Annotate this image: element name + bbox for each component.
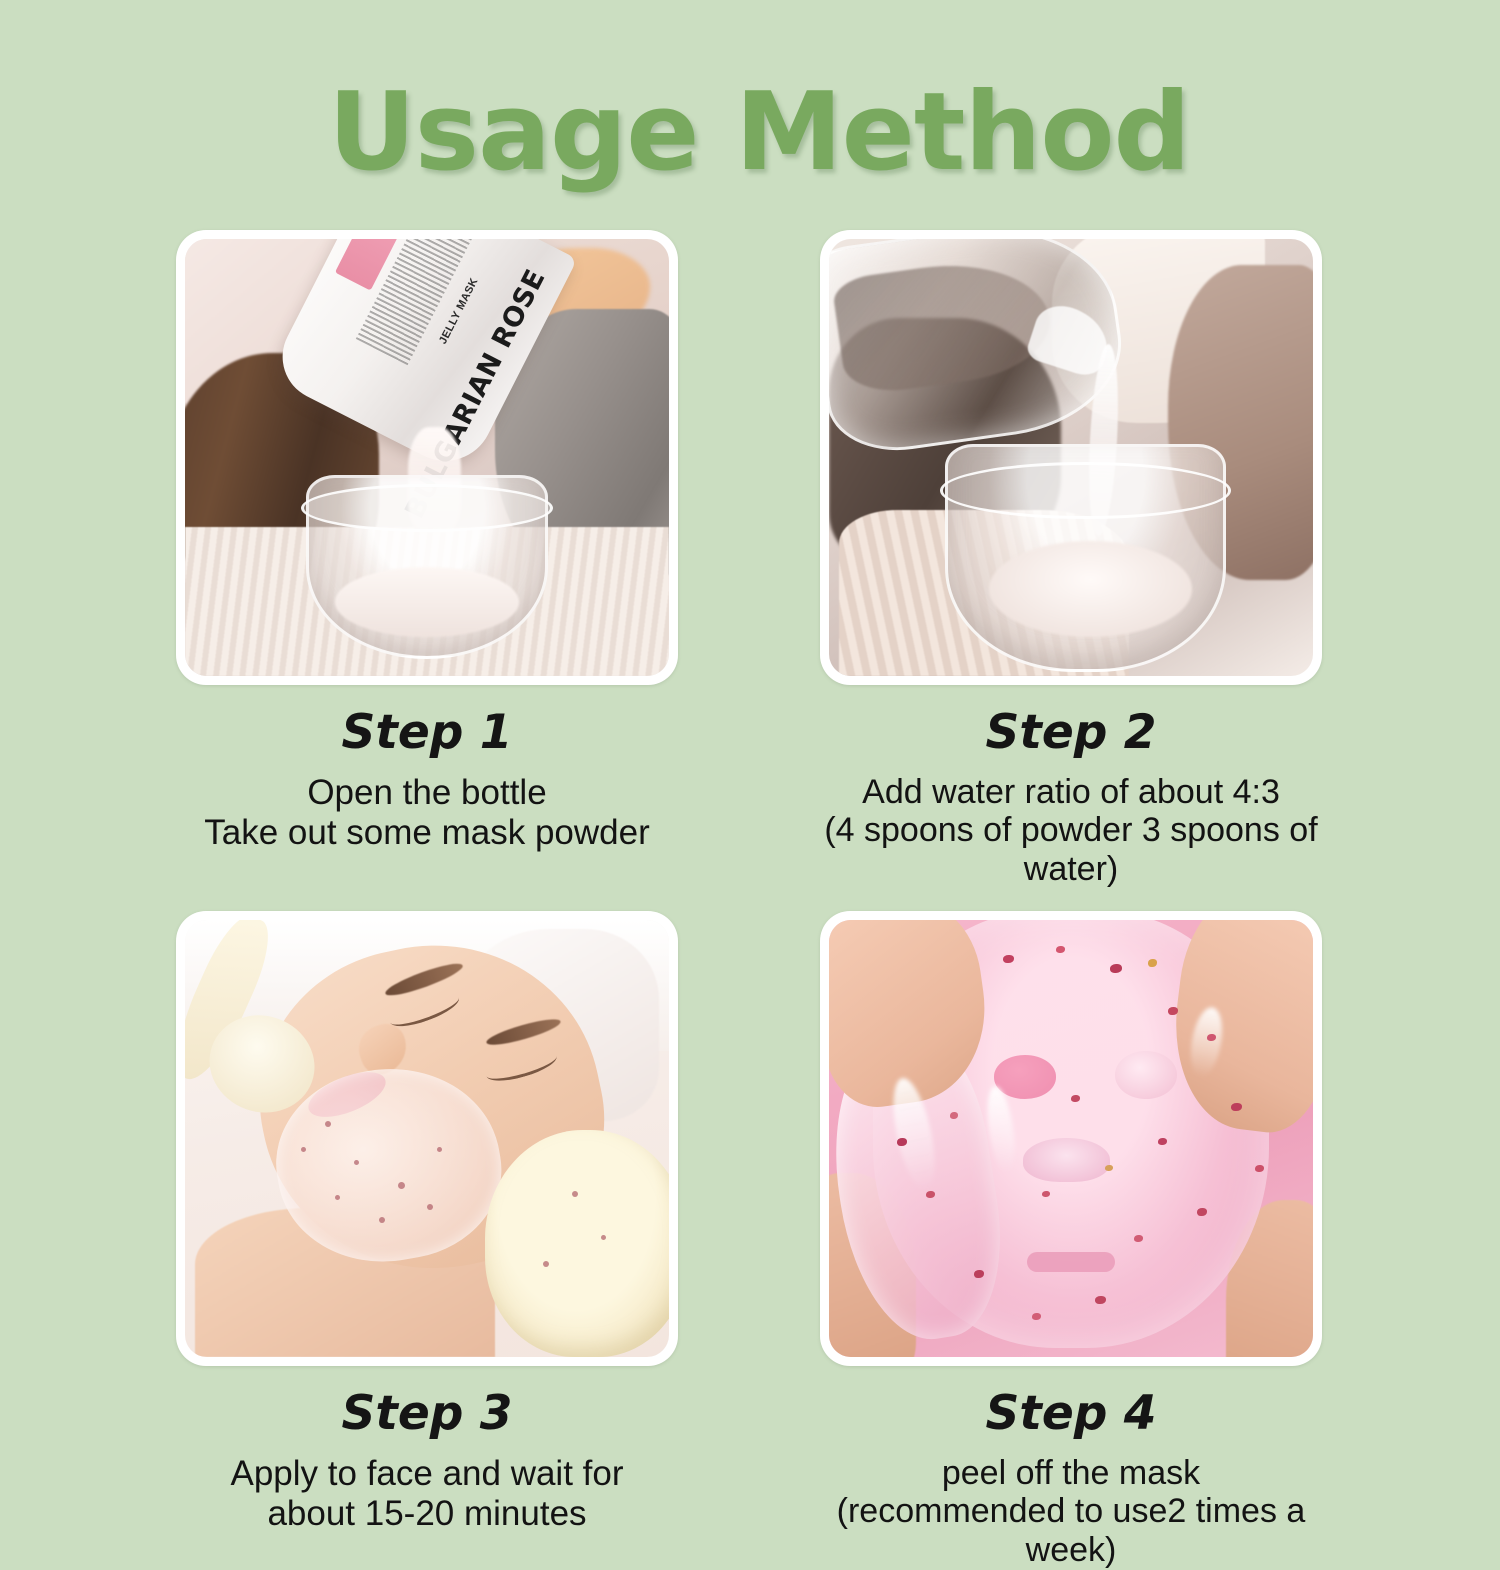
rose-petal-speck — [437, 1147, 442, 1152]
page-title: Usage Method — [310, 76, 1190, 189]
rose-petal — [1042, 1191, 1050, 1197]
step-2-description: Add water ratio of about 4:3 (4 spoons o… — [820, 773, 1322, 889]
step-3-description: Apply to face and wait for about 15-20 m… — [176, 1454, 678, 1534]
step-4-label: Step 4 — [820, 1388, 1322, 1440]
rose-petal — [1255, 1165, 1264, 1172]
rose-petal — [1134, 1235, 1143, 1242]
step-2-photo-frame — [820, 230, 1322, 685]
step-card-4: Step 4 peel off the mask (recommended to… — [820, 911, 1322, 1570]
rose-petal-speck — [601, 1235, 606, 1240]
step-3-photo-frame — [176, 911, 678, 1366]
page-header: Usage Method — [0, 76, 1500, 189]
step-4-description: peel off the mask (recommended to use2 t… — [820, 1454, 1322, 1570]
powder-in-bowl — [335, 567, 519, 637]
step-2-caption: Step 2 Add water ratio of about 4:3 (4 s… — [820, 685, 1322, 889]
glass-bowl-rim — [301, 484, 553, 532]
powder-in-bowl — [989, 541, 1192, 637]
step-1-photo-frame: JELLY MASK BULGARIAN ROSE — [176, 230, 678, 685]
step-1-description: Open the bottle Take out some mask powde… — [176, 773, 678, 853]
applying-mask-to-face-image — [185, 920, 669, 1357]
mask-chin-slit — [1027, 1252, 1114, 1272]
steps-grid: JELLY MASK BULGARIAN ROSE Step 1 Open th… — [176, 230, 1324, 1570]
pouring-powder-into-bowl-image: JELLY MASK BULGARIAN ROSE — [185, 239, 669, 676]
rose-petal-speck — [379, 1217, 385, 1223]
glass-bowl-rim — [940, 462, 1230, 519]
rose-petal — [1071, 1095, 1080, 1102]
step-3-label: Step 3 — [176, 1388, 678, 1440]
peeling-off-jelly-mask-image — [829, 920, 1313, 1357]
step-4-caption: Step 4 peel off the mask (recommended to… — [820, 1366, 1322, 1570]
mask-mouth-hole — [1023, 1138, 1110, 1182]
step-card-1: JELLY MASK BULGARIAN ROSE Step 1 Open th… — [176, 230, 678, 889]
rose-petal — [974, 1270, 984, 1278]
pitcher-interior — [831, 251, 1057, 397]
step-3-caption: Step 3 Apply to face and wait for about … — [176, 1366, 678, 1533]
rose-petal — [1110, 964, 1122, 973]
mask-mixing-bowl — [485, 1130, 669, 1357]
step-1-label: Step 1 — [176, 707, 678, 759]
step-1-caption: Step 1 Open the bottle Take out some mas… — [176, 685, 678, 852]
pouring-water-into-powder-image — [829, 239, 1313, 676]
step-4-photo-frame — [820, 911, 1322, 1366]
rose-petal-speck — [427, 1204, 433, 1210]
step-2-label: Step 2 — [820, 707, 1322, 759]
rose-petal — [1105, 1165, 1113, 1171]
step-card-3: Step 3 Apply to face and wait for about … — [176, 911, 678, 1570]
rose-petal — [1207, 1034, 1216, 1041]
mask-eye-hole — [1115, 1051, 1178, 1099]
rose-petal-speck — [543, 1261, 549, 1267]
rose-petal — [926, 1191, 935, 1198]
rose-petal — [1095, 1296, 1106, 1304]
step-card-2: Step 2 Add water ratio of about 4:3 (4 s… — [820, 230, 1322, 889]
